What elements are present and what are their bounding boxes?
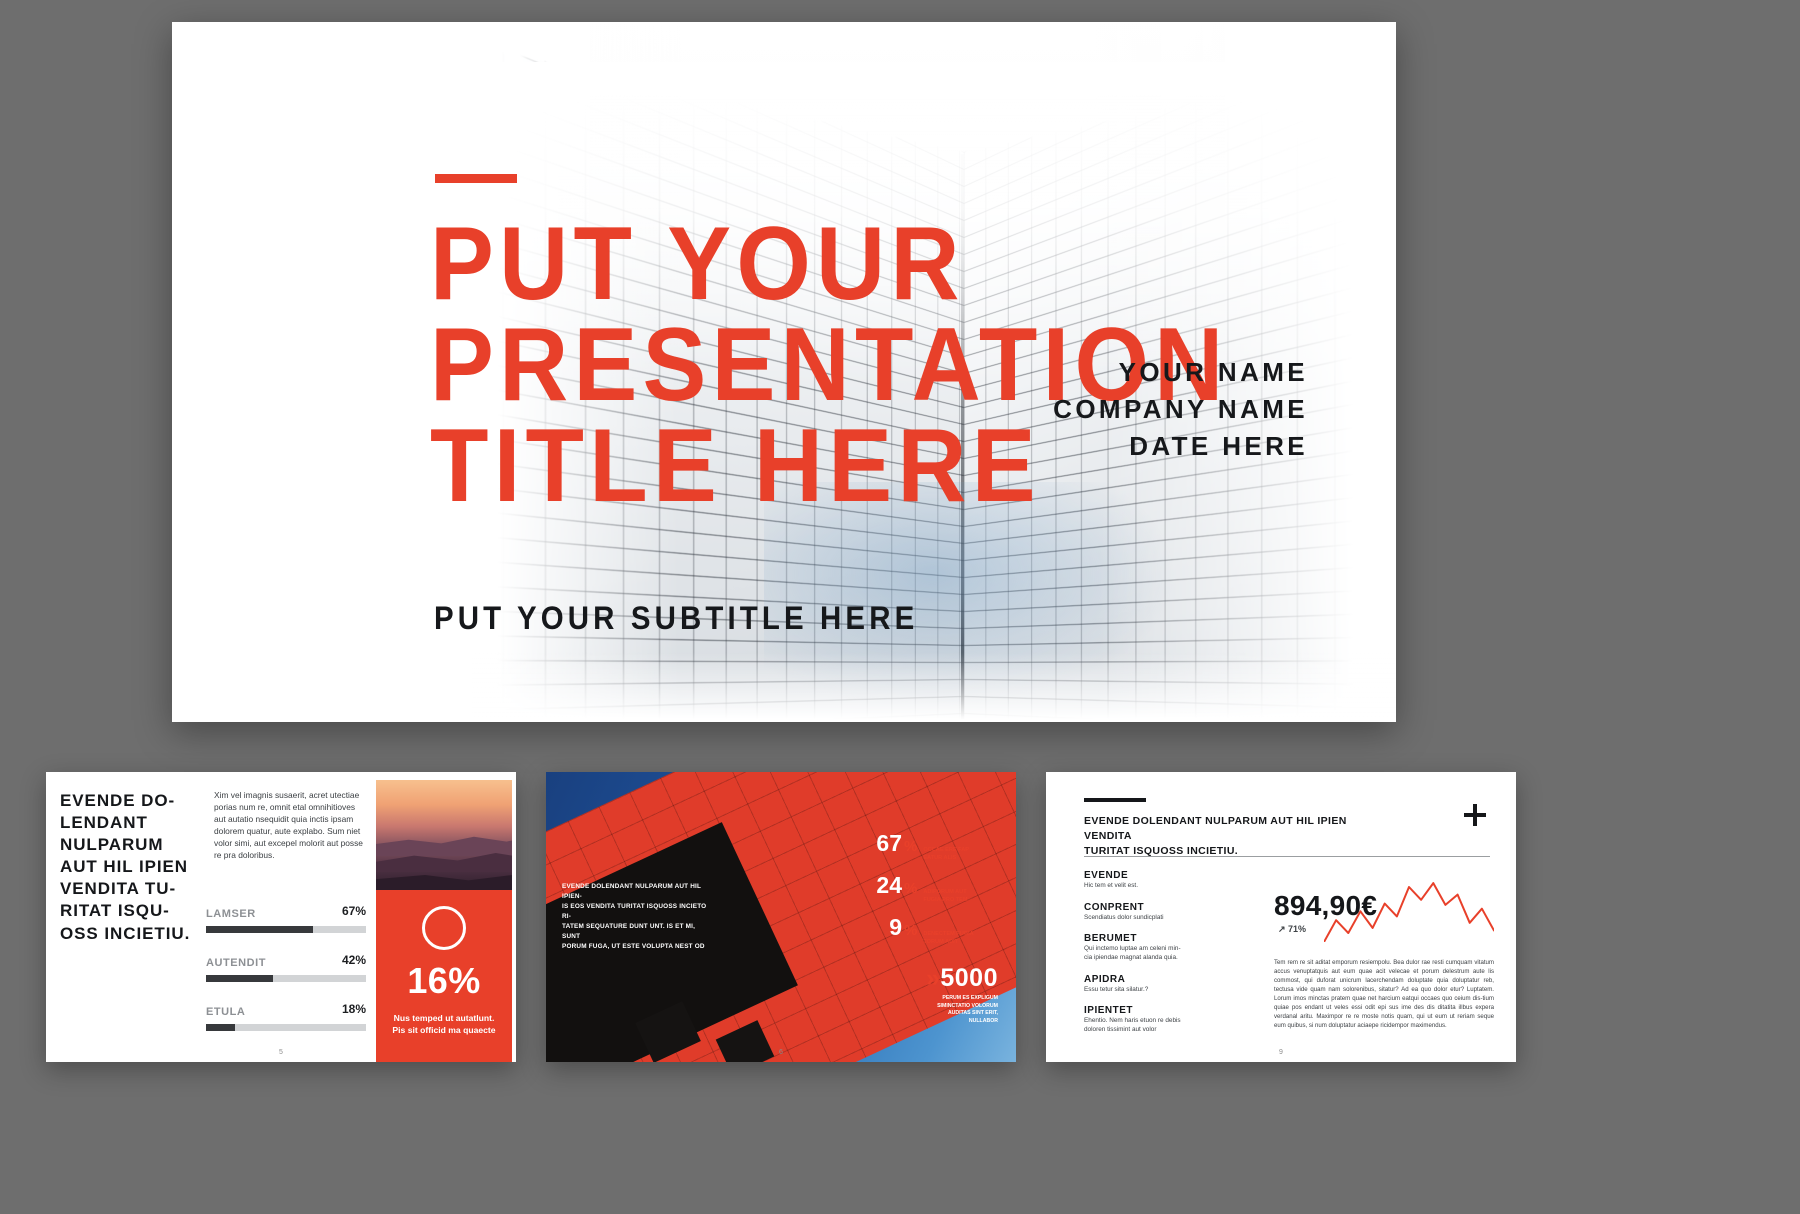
- stat-row: 24 % ADIPORUM AUT FUGIA PRO TEM: [868, 872, 998, 904]
- list-item: IPIENTET Ehentio. Nem haris etuon re deb…: [1084, 1005, 1204, 1034]
- bar-label: ETULA: [206, 1006, 245, 1018]
- list-item-value: Essu tetur sita silatur.?: [1084, 986, 1204, 995]
- plus-icon[interactable]: [1464, 804, 1486, 826]
- slide9-paragraph: Tem rem re sit aditat emporum resiempolu…: [1274, 958, 1494, 1030]
- bar-track: [206, 975, 366, 982]
- bar-label: AUTENDIT: [206, 957, 266, 969]
- list-item-key: CONPRENT: [1084, 902, 1204, 913]
- list-item-key: BERUMET: [1084, 933, 1204, 944]
- bar-percent: 67%: [342, 904, 366, 918]
- list-item: APIDRA Essu tetur sita silatur.?: [1084, 974, 1204, 995]
- divider: [1084, 856, 1490, 857]
- stat-symbol: %: [904, 922, 917, 939]
- bar-label: LAMSER: [206, 908, 256, 920]
- bar-row: ETULA 18%: [206, 1002, 366, 1031]
- slide5-photo: [376, 780, 512, 890]
- page-number: 9: [1279, 1049, 1283, 1056]
- slide6-caption: EVENDE DOLENDANT NULPARUM AUT HIL IPIEN-…: [562, 882, 712, 951]
- bar-fill: [206, 926, 313, 933]
- stat-symbol: %: [904, 838, 917, 855]
- slide5-bar-chart: LAMSER 67% AUTENDIT 42% ETULA 18%: [206, 904, 366, 1051]
- stat-row: 67 % OCCAE ERE FAP EATUR ALIS: [868, 830, 998, 862]
- slide5-body-text: Xim vel imagnis susaerit, acret utectiae…: [214, 790, 364, 862]
- bar-track: [206, 1024, 366, 1031]
- stat-text: OCCAE ERE FAP EATUR ALIS: [923, 847, 969, 862]
- card-caption: Nus temped ut autatlunt. Pis sit officid…: [376, 1012, 512, 1037]
- card-big-number: 16%: [407, 960, 480, 1002]
- presenter-company: COMPANY NAME: [1053, 391, 1308, 428]
- list-item: CONPRENT Scendiatus dolor sundicplati: [1084, 902, 1204, 923]
- photo-bottom-fade: [472, 652, 1396, 722]
- bar-fill: [206, 1024, 235, 1031]
- bar-percent: 18%: [342, 1002, 366, 1016]
- stat-text: DENECTEM FUGIA TORUM ADIT: [923, 931, 973, 946]
- list-item-key: EVENDE: [1084, 870, 1204, 881]
- page-title: PUT YOUR PRESENTATION TITLE HERE: [430, 214, 1129, 517]
- list-item-key: IPIENTET: [1084, 1005, 1204, 1016]
- stat-row: 9 % DENECTEM FUGIA TORUM ADIT: [868, 914, 998, 946]
- stat-number: 67: [868, 830, 902, 857]
- bar-row: LAMSER 67%: [206, 904, 366, 933]
- list-item: EVENDE Hic tem et velit est.: [1084, 870, 1204, 891]
- big-figure-number: 5000: [940, 964, 998, 992]
- bar-percent: 42%: [342, 953, 366, 967]
- slide9-heading: EVENDE DOLENDANT NULPARUM AUT HIL IPIEN …: [1084, 814, 1384, 859]
- page-subtitle: PUT YOUR SUBTITLE HERE: [434, 600, 918, 637]
- circle-icon: [422, 906, 466, 950]
- stat-symbol: %: [904, 880, 917, 897]
- slide9-delta: ↗ 71%: [1278, 924, 1306, 935]
- page-number: 6: [779, 1049, 783, 1056]
- slide-thumbnail-9[interactable]: EVENDE DOLENDANT NULPARUM AUT HIL IPIEN …: [1046, 772, 1516, 1062]
- heading-accent-rule: [1084, 798, 1146, 802]
- bar-fill: [206, 975, 273, 982]
- presenter-meta: YOUR NAME COMPANY NAME DATE HERE: [1053, 354, 1308, 465]
- list-item-value: Hic tem et velit est.: [1084, 882, 1204, 891]
- list-item: BERUMET Qui inctemo luptae am celeni min…: [1084, 933, 1204, 962]
- stat-text: ADIPORUM AUT FUGIA PRO TEM: [923, 889, 967, 904]
- mountain-ridge-far: [376, 826, 512, 856]
- big-figure-line: »5000: [926, 964, 998, 993]
- big-figure-desc: PERUM ES EXPLIGUM SIMINCTATIO VOLORUM AU…: [926, 995, 998, 1026]
- slide9-line-chart: [1324, 878, 1494, 942]
- slide9-definition-list: EVENDE Hic tem et velit est. CONPRENT Sc…: [1084, 870, 1204, 1045]
- title-accent-rule: [435, 174, 517, 183]
- bar-track: [206, 926, 366, 933]
- stat-number: 9: [868, 914, 902, 941]
- stat-number: 24: [868, 872, 902, 899]
- slide-thumbnail-5[interactable]: EVENDE DO- LENDANT NULPARUM AUT HIL IPIE…: [46, 772, 516, 1062]
- bar-row: AUTENDIT 42%: [206, 953, 366, 982]
- presenter-name: YOUR NAME: [1053, 354, 1308, 391]
- page-number: 5: [279, 1049, 283, 1056]
- slide5-highlight-card: 16% Nus temped ut autatlunt. Pis sit off…: [376, 890, 512, 1062]
- slide6-stats: 67 % OCCAE ERE FAP EATUR ALIS 24 % ADIPO…: [868, 830, 998, 956]
- slide6-big-figure: »5000 PERUM ES EXPLIGUM SIMINCTATIO VOLO…: [926, 964, 998, 1026]
- chevron-icon: »: [926, 964, 940, 992]
- list-item-value: Qui inctemo luptae am celeni min- cia ip…: [1084, 945, 1204, 962]
- list-item-key: APIDRA: [1084, 974, 1204, 985]
- list-item-value: Ehentio. Nem haris etuon re debis dolore…: [1084, 1017, 1204, 1034]
- list-item-value: Scendiatus dolor sundicplati: [1084, 914, 1204, 923]
- slide-thumbnail-6[interactable]: EVENDE DOLENDANT NULPARUM AUT HIL IPIEN-…: [546, 772, 1016, 1062]
- presenter-date: DATE HERE: [1053, 428, 1308, 465]
- hero-slide[interactable]: PUT YOUR PRESENTATION TITLE HERE PUT YOU…: [172, 22, 1396, 722]
- slide5-heading: EVENDE DO- LENDANT NULPARUM AUT HIL IPIE…: [60, 790, 200, 945]
